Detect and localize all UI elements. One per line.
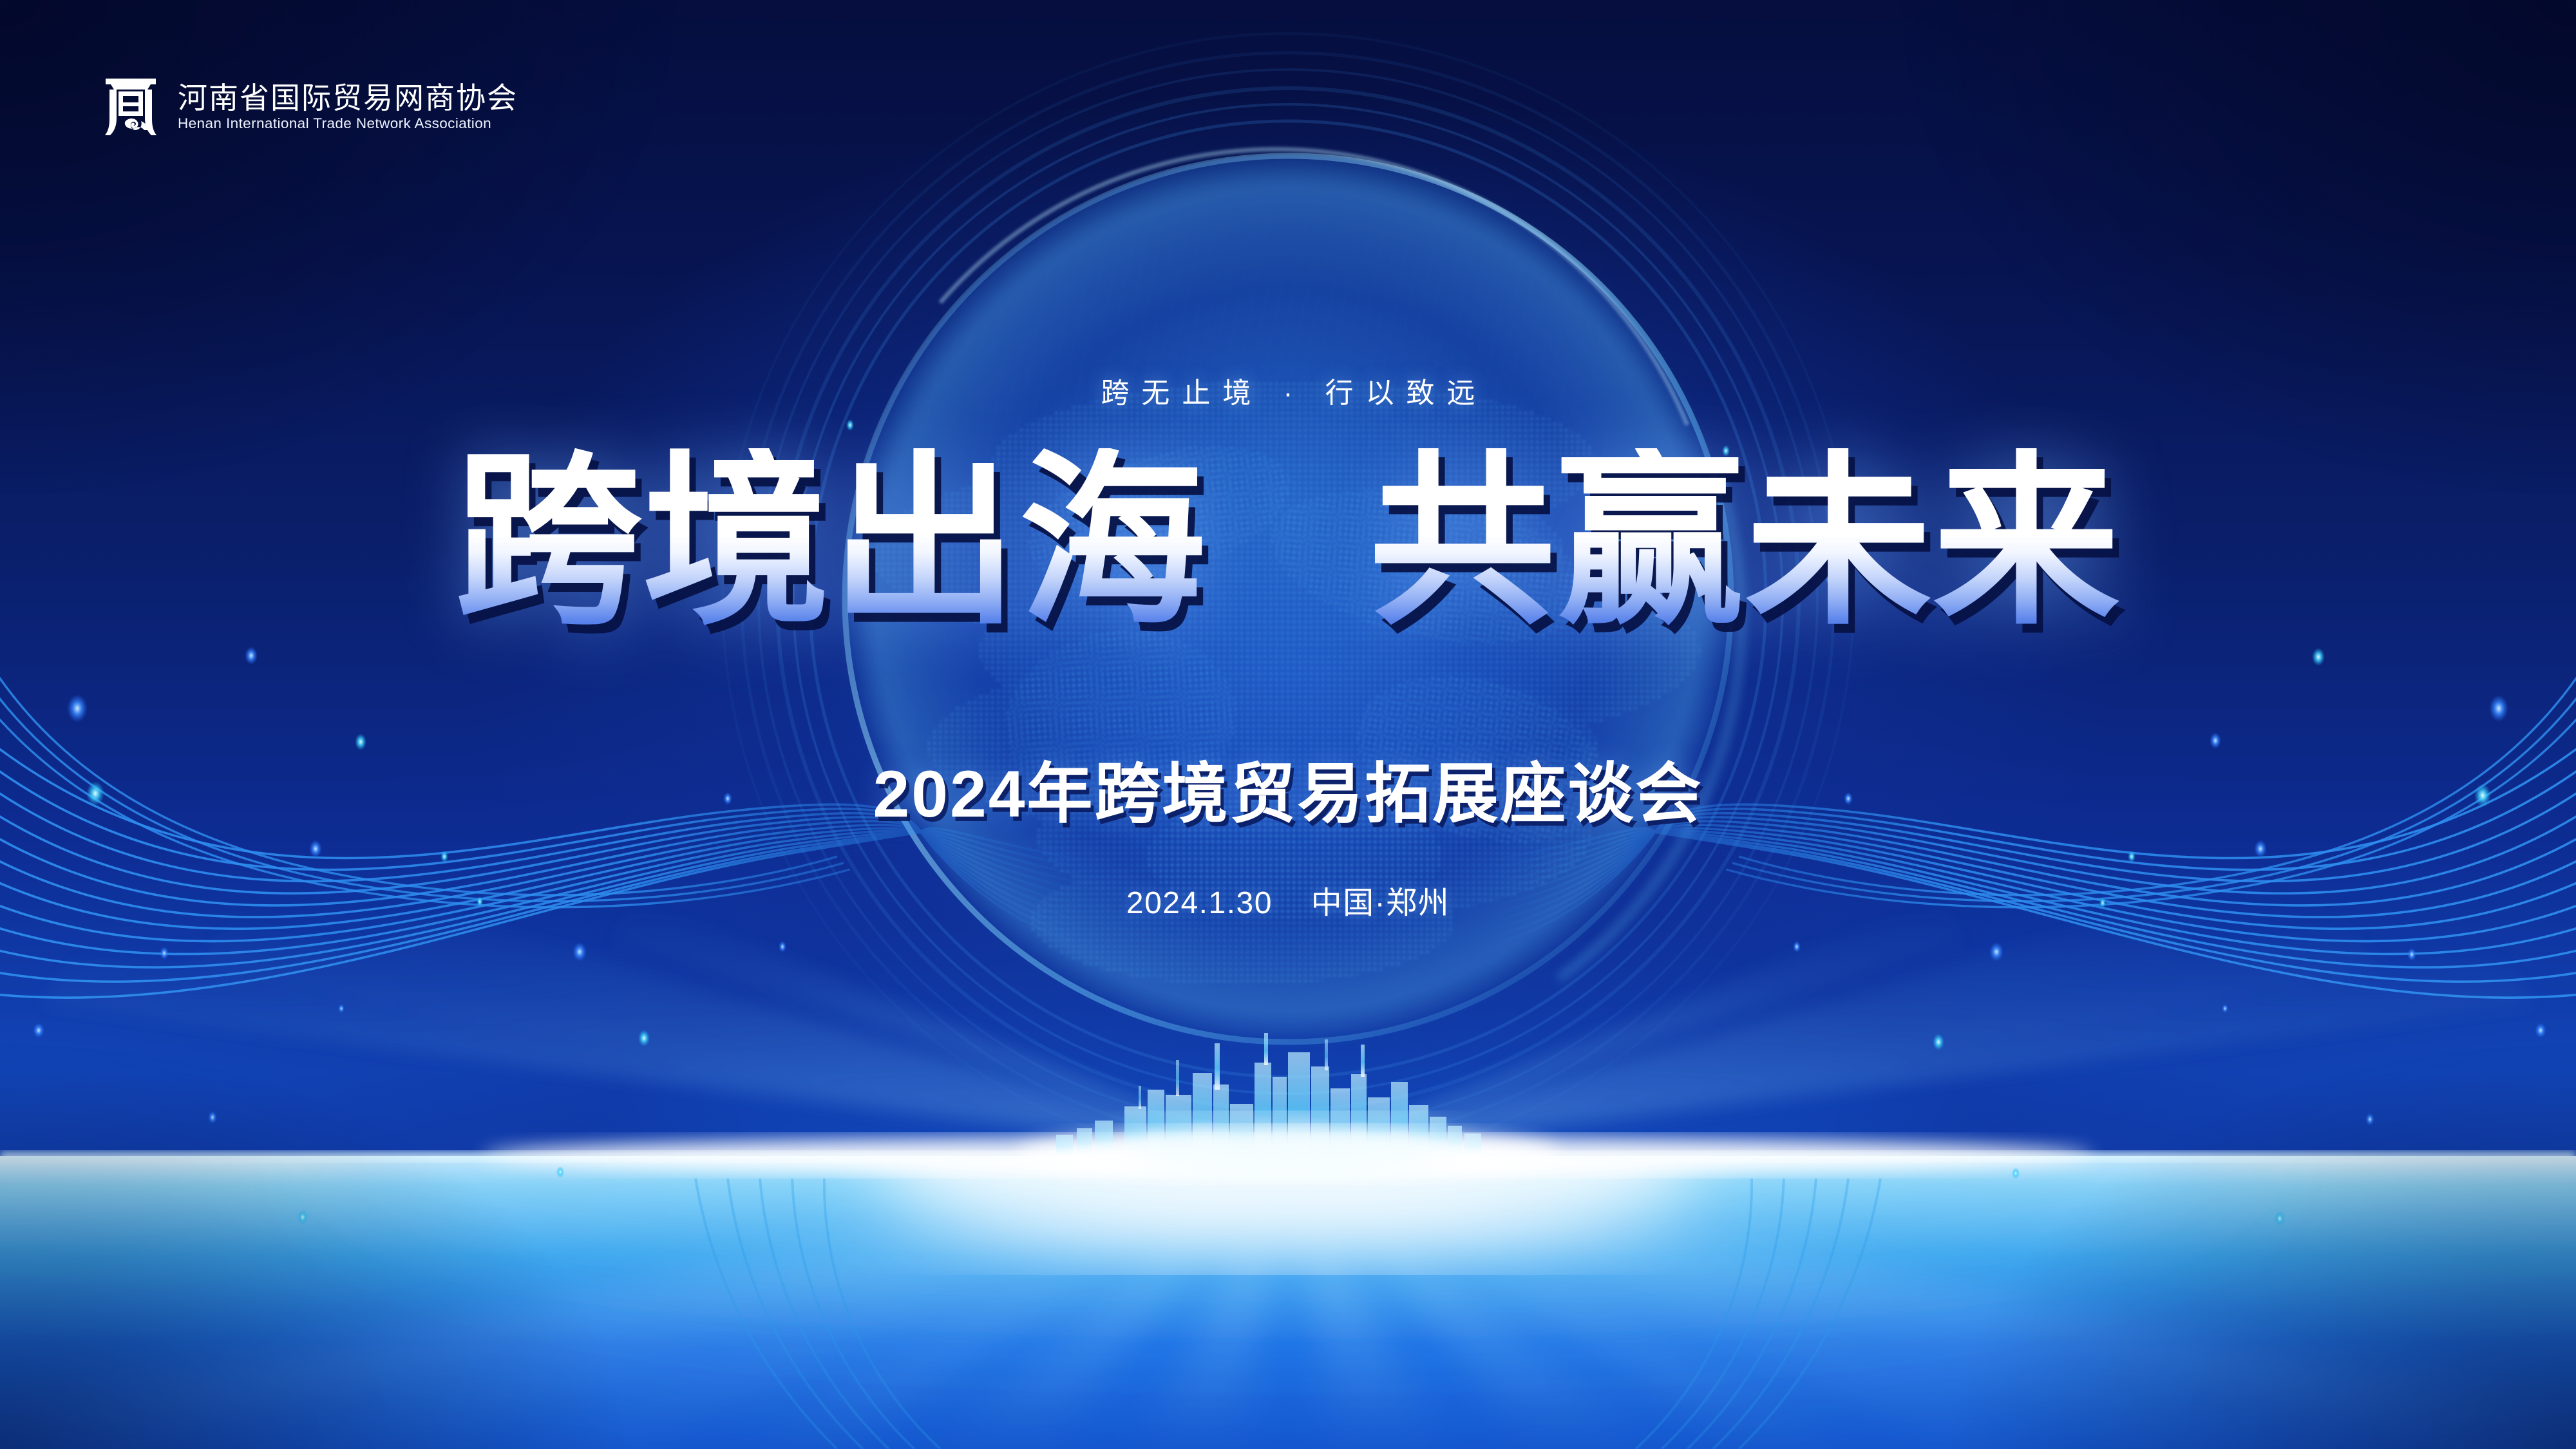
event-location: 中国·郑州 (1311, 886, 1450, 920)
seal-cloud-emblem-icon (103, 76, 158, 138)
logo-name-en: Henan International Trade Network Associ… (178, 117, 518, 131)
association-logo[interactable]: 河南省国际贸易网商协会 Henan International Trade Ne… (103, 76, 518, 138)
logo-name-cn: 河南省国际贸易网商协会 (178, 83, 518, 113)
event-poster: 河南省国际贸易网商协会 Henan International Trade Ne… (0, 0, 2576, 1449)
headline-part-1: 跨境出海 (455, 448, 1207, 635)
event-subtitle: 2024年跨境贸易拓展座谈会 (0, 757, 2576, 831)
page-title: 跨境出海 共赢未来 (0, 448, 2576, 635)
event-dateline: 2024.1.30 中国·郑州 (0, 877, 2576, 922)
event-date: 2024.1.30 (1126, 886, 1273, 920)
tagline: 跨无止境 · 行以致远 (0, 370, 2576, 411)
headline-part-2: 共赢未来 (1369, 448, 2121, 635)
